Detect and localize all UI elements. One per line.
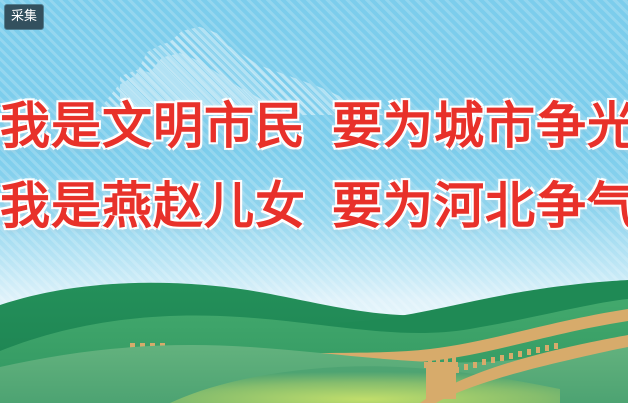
slogan-line-2-left: 我是燕赵儿女 <box>0 177 306 235</box>
slogan-line-1-right: 要为城市争光 <box>332 97 628 155</box>
slogan-line-2: 我是燕赵儿女要为河北争气 <box>0 178 628 234</box>
watch-tower-right <box>424 357 458 399</box>
banner-screenshot: 我是文明市民要为城市争光 我是燕赵儿女要为河北争气 采集 <box>0 0 628 403</box>
slogan-line-1: 我是文明市民要为城市争光 <box>0 98 628 154</box>
capture-button[interactable]: 采集 <box>4 4 44 30</box>
landscape-illustration <box>0 263 628 403</box>
slogan-line-2-right: 要为河北争气 <box>332 177 628 235</box>
slogan-line-1-left: 我是文明市民 <box>0 97 306 155</box>
